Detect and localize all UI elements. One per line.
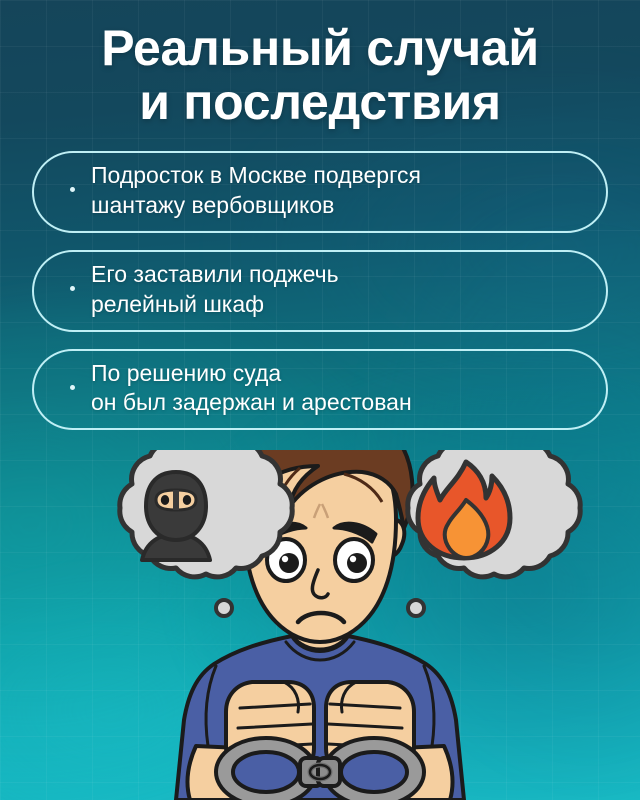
bullet-marker-icon [70,286,75,291]
bullet-item-1: Подросток в Москве подвергся шантажу вер… [32,151,608,233]
bullet-list: Подросток в Москве подвергся шантажу вер… [32,151,608,430]
bullet-marker-icon [70,385,75,390]
thought-bubble-right-dot [408,600,424,616]
infographic-poster: Реальный случай и последствия Подросток … [0,0,640,800]
thought-bubble-left-dot [216,600,232,616]
bullet-item-1-text: Подросток в Москве подвергся шантажу вер… [91,161,421,221]
masked-recruiter-icon [142,472,210,560]
illustration [0,450,640,800]
bullet-item-2-text: Его заставили поджечь релейный шкаф [91,260,339,320]
page-title: Реальный случай и последствия [0,0,640,129]
bullet-marker-icon [70,187,75,192]
bullet-item-2: Его заставили поджечь релейный шкаф [32,250,608,332]
thought-bubble-right [408,450,580,577]
bullet-item-3: По решению суда он был задержан и аресто… [32,349,608,431]
bullet-item-3-text: По решению суда он был задержан и аресто… [91,359,412,419]
page-title-line-1: Реальный случай [40,22,600,76]
page-title-line-2: и последствия [40,76,600,130]
